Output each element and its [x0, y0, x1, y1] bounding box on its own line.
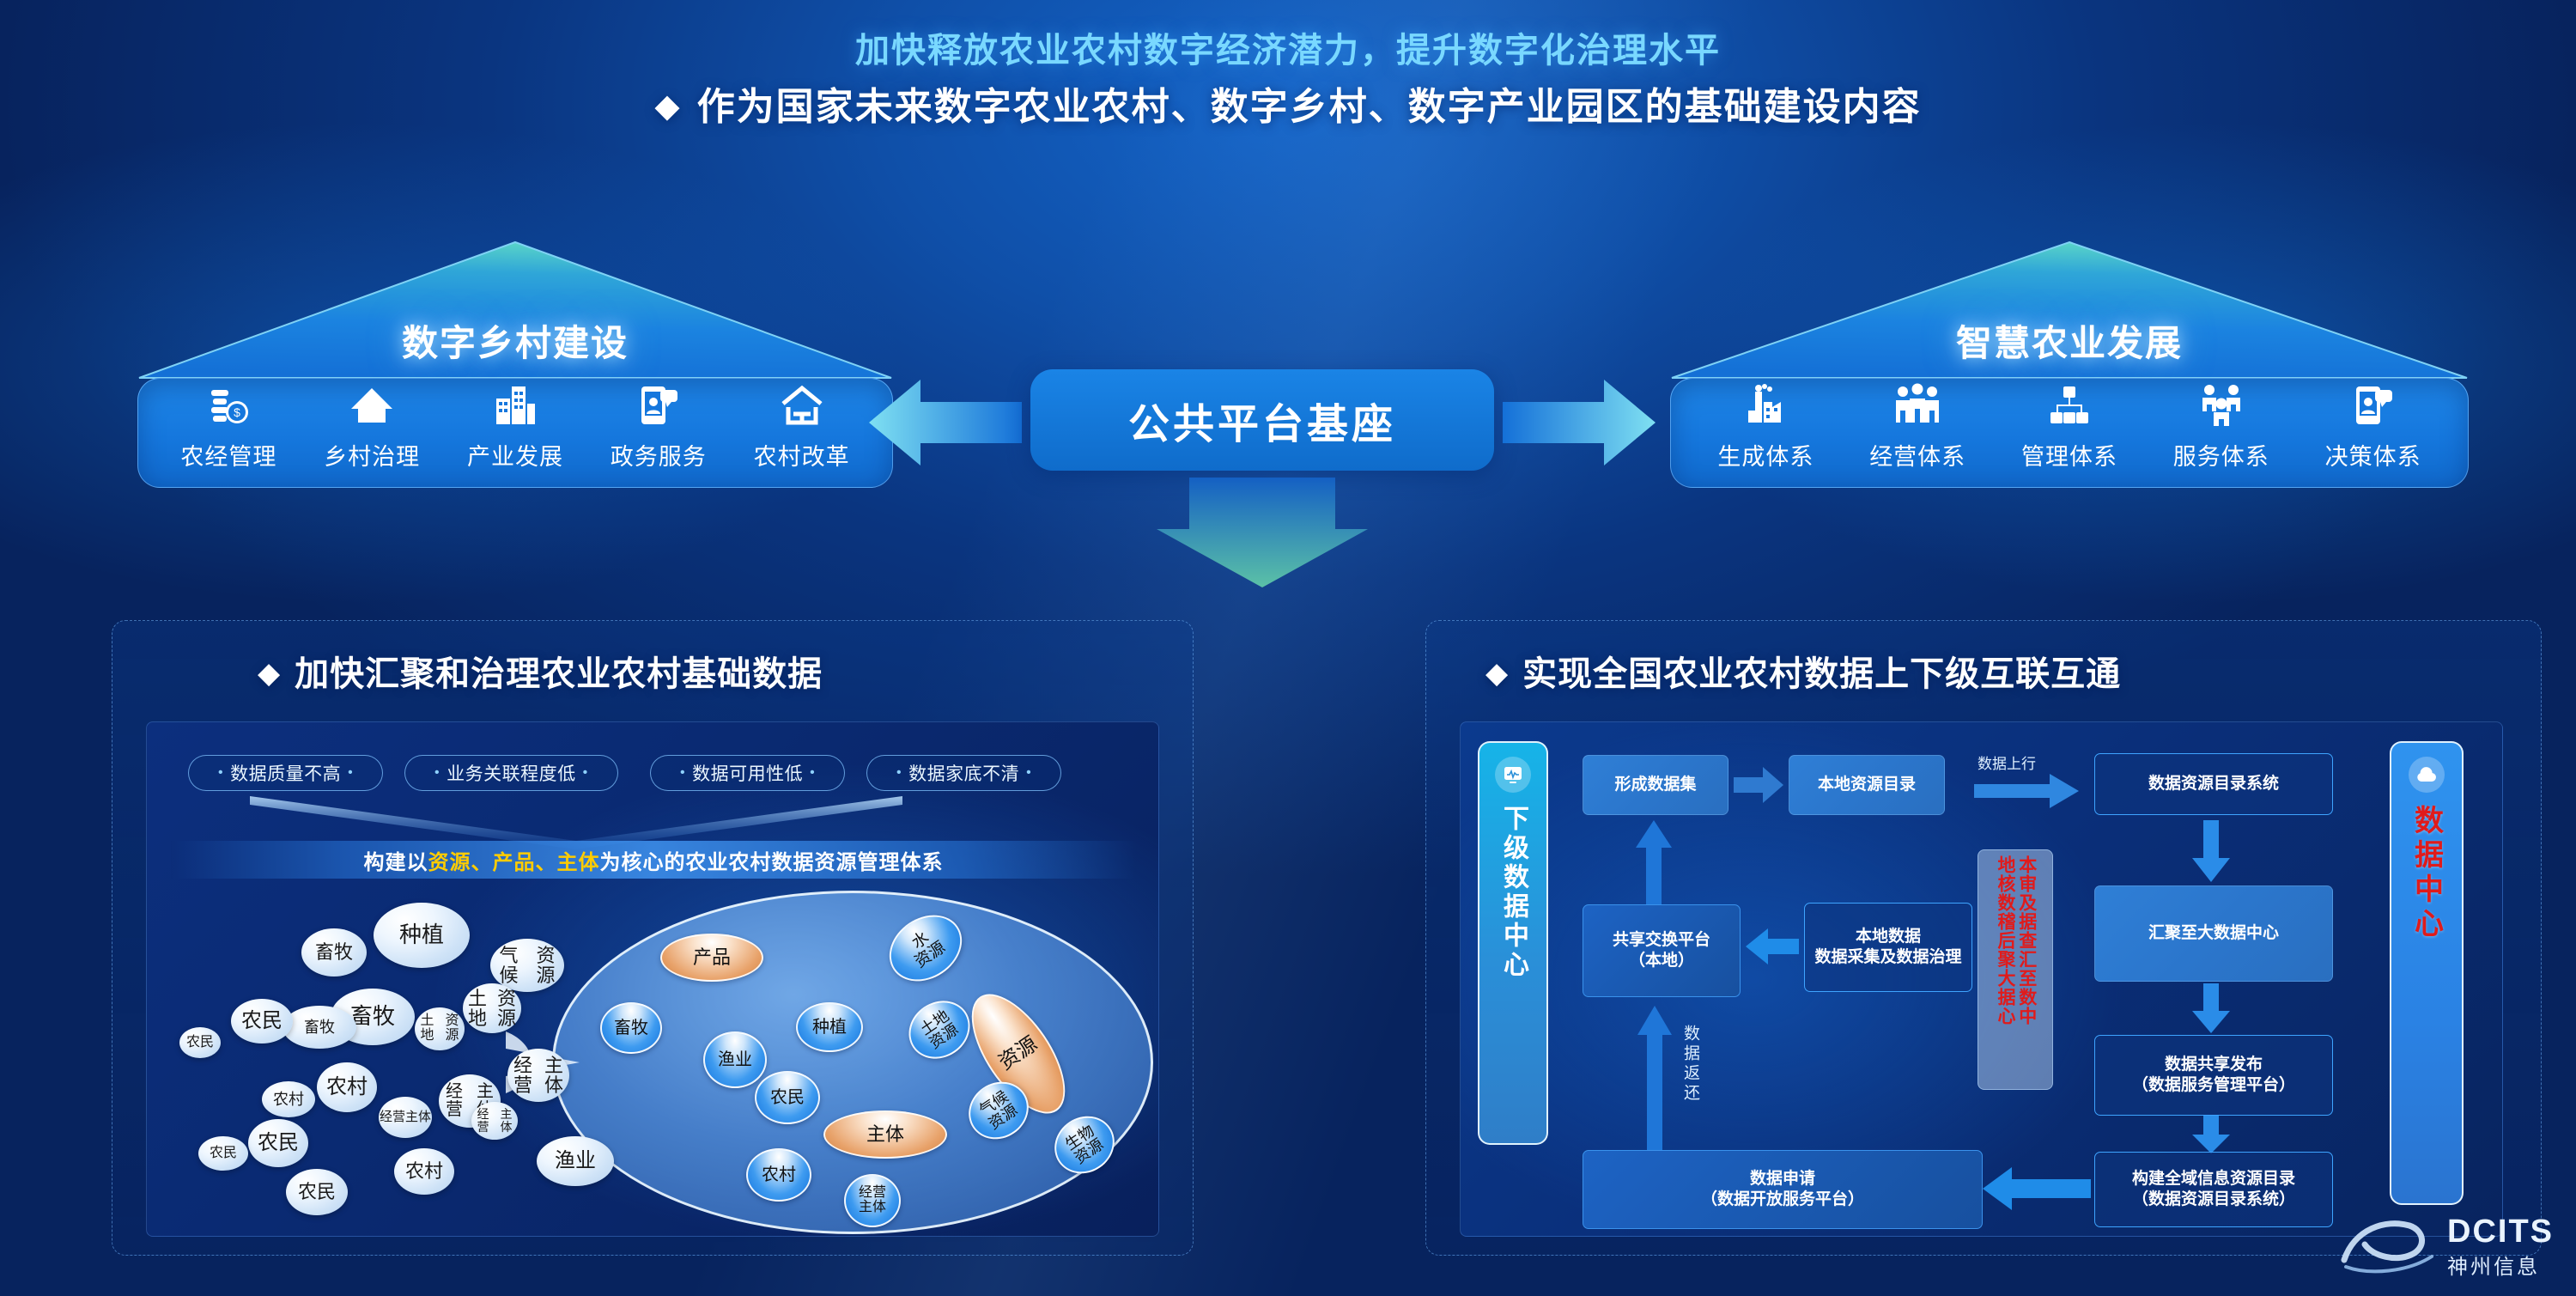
red-note-col-left: 本审及据查汇至数中	[2015, 855, 2037, 1025]
house-left-item-3[interactable]: 政务服务	[594, 376, 723, 472]
red-note-col-right: 地核数稽后聚大据心	[1994, 855, 2015, 1025]
people-group-icon	[1853, 376, 1982, 429]
core-node: 畜牧	[600, 1002, 662, 1054]
org-chart-icon	[2005, 376, 2134, 429]
bubble-node: 土地资源	[415, 1007, 465, 1050]
house-left-roof: 数字乡村建设	[137, 240, 893, 378]
pill-dot-icon: •	[896, 765, 902, 781]
buildings-icon	[451, 376, 580, 429]
issue-pill-label-1: 业务关联程度低	[447, 760, 576, 786]
house-right-roof: 智慧农业发展	[1670, 240, 2469, 378]
mobile-decision-icon	[2309, 376, 2438, 429]
panel-left-heading: ◆加快汇聚和治理农业农村基础数据	[258, 646, 823, 696]
diamond-bullet-icon: ◆	[258, 657, 281, 690]
issue-pill-0[interactable]: •数据质量不高•	[188, 755, 383, 791]
arrow-right-icon	[1734, 767, 1783, 803]
lower-data-center-bar[interactable]: 下级数据中心	[1478, 741, 1548, 1145]
logo-cn: 神州信息	[2447, 1250, 2540, 1280]
house-left-item-label-1: 乡村治理	[307, 438, 436, 472]
bubble-node: 土地资源	[463, 983, 521, 1033]
data-return-label: 数据返还	[1679, 1025, 1702, 1104]
diamond-bullet-icon: ◆	[654, 88, 681, 125]
box-data-apply-l1: 数据申请	[1750, 1169, 1815, 1190]
data-center-bar[interactable]: 数据中心	[2390, 741, 2464, 1205]
issue-pill-1[interactable]: •业务关联程度低•	[404, 755, 618, 791]
core-node: 产品	[660, 934, 763, 982]
bubble-node: 种植	[374, 903, 470, 968]
arrow-left-icon	[1746, 928, 1799, 964]
house-left-item-label-3: 政务服务	[594, 438, 723, 472]
red-note-box: 本审及据查汇至数中 地核数稽后聚大据心	[1978, 849, 2053, 1090]
box-share-publish-l1: 数据共享发布	[2165, 1055, 2263, 1075]
box-share-publish-l2: （数据服务管理平台）	[2132, 1075, 2295, 1096]
box-data-apply-l2: （数据开放服务平台）	[1701, 1190, 1864, 1210]
house-left: 数字乡村建设 $ 农经管理 乡村治理	[137, 240, 893, 488]
arrow-left-icon	[1983, 1167, 2091, 1210]
box-data-apply[interactable]: 数据申请 （数据开放服务平台）	[1583, 1150, 1983, 1229]
house-left-title: 数字乡村建设	[137, 314, 893, 367]
logo-en: DCITS	[2447, 1215, 2554, 1248]
bubble-node: 经营主体	[379, 1097, 432, 1138]
box-global-catalog-l1: 构建全域信息资源目录	[2132, 1169, 2295, 1190]
core-banner: 构建以资源、产品、主体为核心的农业农村数据资源管理体系	[171, 841, 1136, 879]
monitor-pulse-icon	[1495, 757, 1531, 793]
box-local-data[interactable]: 本地数据 数据采集及数据治理	[1804, 903, 1972, 992]
platform-base-badge[interactable]: 公共平台基座	[1030, 369, 1494, 471]
box-share-publish[interactable]: 数据共享发布 （数据服务管理平台）	[2094, 1035, 2333, 1116]
pill-dot-icon: •	[583, 765, 588, 781]
core-node: 主体	[823, 1110, 947, 1159]
house-left-item-0[interactable]: $ 农经管理	[164, 376, 293, 472]
panel-right-heading-text: 实现全国农业农村数据上下级互联互通	[1522, 655, 2121, 693]
bubble-node: 渔业	[537, 1136, 614, 1186]
house-right-item-0[interactable]: 生成体系	[1701, 376, 1830, 472]
house-right-item-1[interactable]: 经营体系	[1853, 376, 1982, 472]
arrow-right-icon	[1974, 774, 2079, 808]
house-right-body: 生成体系 经营体系 管理体系	[1670, 378, 2469, 488]
pill-dot-icon: •	[680, 765, 685, 781]
issue-pill-2[interactable]: •数据可用性低•	[650, 755, 845, 791]
house-left-item-label-0: 农经管理	[164, 438, 293, 472]
box-local-data-l2: 数据采集及数据治理	[1814, 947, 1961, 968]
arrow-down-icon	[1155, 478, 1370, 589]
core-banner-prefix: 构建以	[364, 845, 428, 875]
core-node: 经营主体	[844, 1174, 901, 1227]
core-node: 种植	[796, 1002, 863, 1052]
house-right-item-label-2: 管理体系	[2005, 438, 2134, 472]
bubble-node: 农民	[286, 1169, 348, 1215]
issue-pill-label-0: 数据质量不高	[230, 760, 341, 786]
bubble-node: 农民	[198, 1136, 248, 1171]
bubble-node: 农民	[179, 1027, 221, 1058]
panel-right-heading: ◆实现全国农业农村数据上下级互联互通	[1485, 646, 2121, 696]
box-local-catalog[interactable]: 本地资源目录	[1789, 755, 1945, 815]
box-form-dataset[interactable]: 形成数据集	[1583, 755, 1728, 815]
lower-data-center-label: 下级数据中心	[1494, 805, 1532, 980]
house-left-item-label-2: 产业发展	[451, 438, 580, 472]
pill-dot-icon: •	[1026, 765, 1031, 781]
pill-dot-icon: •	[434, 765, 440, 781]
house-icon	[307, 376, 436, 429]
box-local-data-l1: 本地数据	[1856, 927, 1921, 947]
arrow-up-icon	[1636, 820, 1672, 906]
house-right: 智慧农业发展 生成体系 经营体	[1670, 240, 2469, 488]
issue-pill-label-2: 数据可用性低	[692, 760, 803, 786]
core-banner-suffix: 为核心的农业农村数据资源管理体系	[600, 845, 944, 875]
bubble-node: 农民	[231, 999, 293, 1043]
pill-dot-icon: •	[348, 765, 353, 781]
bubble-node: 农村	[317, 1062, 377, 1112]
panel-right-canvas: 下级数据中心 数据中心 形成数据集 本地资源目录 数据上行 数据资源目录系统 共…	[1460, 721, 2503, 1237]
data-center-label: 数据中心	[2406, 805, 2448, 942]
house-left-item-4[interactable]: 农村改革	[738, 376, 866, 472]
box-catalog-system[interactable]: 数据资源目录系统	[2094, 753, 2333, 815]
bubble-node: 农民	[248, 1119, 308, 1167]
house-left-item-label-4: 农村改革	[738, 438, 866, 472]
house-right-item-4[interactable]: 决策体系	[2309, 376, 2438, 472]
bubble-node: 农村	[394, 1148, 454, 1195]
diamond-bullet-icon: ◆	[1485, 657, 1509, 690]
page-subtitle-text: 作为国家未来数字农业农村、数字乡村、数字产业园区的基础建设内容	[697, 86, 1922, 128]
panel-left-heading-text: 加快汇聚和治理农业农村基础数据	[295, 655, 823, 693]
issue-pill-label-3: 数据家底不清	[908, 760, 1019, 786]
page-title: 加快释放农业农村数字经济潜力，提升数字化治理水平	[0, 22, 2576, 72]
house-right-item-3[interactable]: 服务体系	[2157, 376, 2286, 472]
house-left-item-2[interactable]: 产业发展	[451, 376, 580, 472]
core-node: 农民	[755, 1071, 820, 1124]
box-share-platform[interactable]: 共享交换平台 （本地）	[1583, 904, 1741, 997]
core-node: 农村	[746, 1148, 811, 1202]
issue-pill-3[interactable]: •数据家底不清•	[866, 755, 1061, 791]
core-banner-highlight: 资源、产品、主体	[428, 845, 600, 875]
house-right-item-label-0: 生成体系	[1701, 438, 1830, 472]
money-coin-icon: $	[164, 376, 293, 429]
house-right-item-label-4: 决策体系	[2309, 438, 2438, 472]
svg-text:$: $	[234, 405, 240, 419]
house-left-body: $ 农经管理 乡村治理	[137, 378, 893, 488]
house-right-item-label-1: 经营体系	[1853, 438, 1982, 472]
pill-dot-icon: •	[218, 765, 223, 781]
brand-logo: DCITS 神州信息	[2336, 1214, 2554, 1282]
bubble-node: 农村	[262, 1081, 315, 1117]
mobile-service-icon	[594, 376, 723, 429]
data-upload-label: 数据上行	[1978, 751, 2036, 773]
arrow-down-icon	[2192, 983, 2230, 1033]
panel-left-canvas: •数据质量不高• •业务关联程度低• •数据可用性低• •数据家底不清• 构建以…	[146, 721, 1159, 1237]
logo-mark-icon	[2336, 1214, 2439, 1282]
pill-dot-icon: •	[810, 765, 815, 781]
bubble-node: 经营主体	[471, 1102, 518, 1140]
village-home-icon	[738, 376, 866, 429]
house-right-item-2[interactable]: 管理体系	[2005, 376, 2134, 472]
arrow-down-icon	[2192, 820, 2230, 882]
house-left-item-1[interactable]: 乡村治理	[307, 376, 436, 472]
arrow-down-icon	[2192, 1116, 2230, 1153]
box-share-platform-l1: 共享交换平台	[1613, 930, 1710, 951]
factory-icon	[1701, 376, 1830, 429]
service-people-icon	[2157, 376, 2286, 429]
house-right-item-label-3: 服务体系	[2157, 438, 2286, 472]
box-global-catalog[interactable]: 构建全域信息资源目录 （数据资源目录系统）	[2094, 1152, 2333, 1227]
box-aggregate-center[interactable]: 汇聚至大数据中心	[2094, 885, 2333, 982]
house-right-title: 智慧农业发展	[1670, 314, 2469, 367]
box-global-catalog-l2: （数据资源目录系统）	[2132, 1190, 2295, 1210]
page-subtitle: ◆作为国家未来数字农业农村、数字乡村、数字产业园区的基础建设内容	[0, 76, 2576, 131]
bubble-node: 畜牧	[301, 928, 367, 977]
logo-text: DCITS 神州信息	[2447, 1215, 2554, 1280]
cloud-icon	[2409, 757, 2445, 793]
arrow-left-icon	[867, 378, 1022, 467]
bubble-node: 经营主体	[507, 1049, 569, 1102]
arrow-up-icon	[1637, 1006, 1672, 1150]
arrow-right-icon	[1503, 378, 1657, 467]
bubble-node: 畜牧	[283, 1006, 356, 1049]
box-share-platform-l2: （本地）	[1629, 951, 1694, 971]
core-node: 渔业	[703, 1031, 767, 1088]
